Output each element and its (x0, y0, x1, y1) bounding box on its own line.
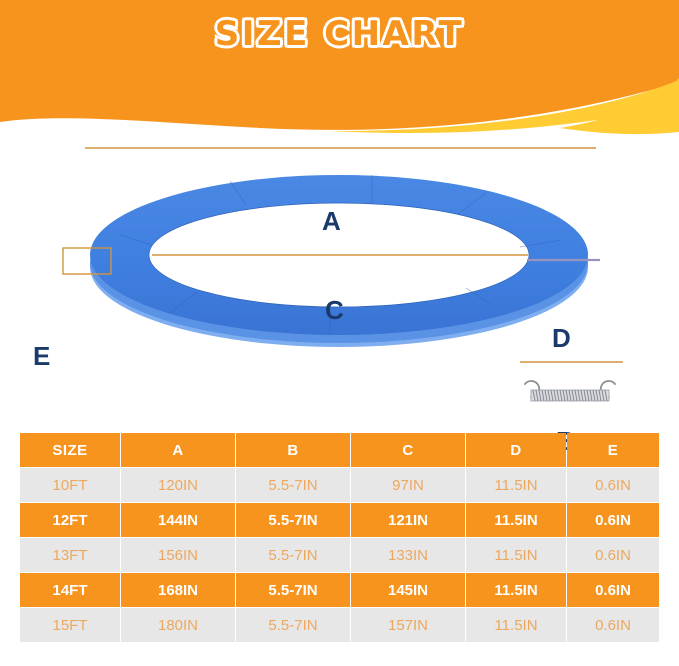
cell-c: 157IN (351, 608, 465, 642)
cell-e: 0.6IN (567, 573, 659, 607)
cell-size: 14FT (20, 573, 120, 607)
size-table-container: SIZE A B C D E 10FT 120IN 5.5-7IN 97IN 1… (19, 432, 657, 643)
cell-c: 97IN (351, 468, 465, 502)
cell-size: 12FT (20, 503, 120, 537)
cell-b: 5.5-7IN (236, 573, 350, 607)
cell-e: 0.6IN (567, 468, 659, 502)
cell-b: 5.5-7IN (236, 608, 350, 642)
table-row: 12FT 144IN 5.5-7IN 121IN 11.5IN 0.6IN (20, 503, 659, 537)
table-row: 15FT 180IN 5.5-7IN 157IN 11.5IN 0.6IN (20, 608, 659, 642)
cell-e: 0.6IN (567, 608, 659, 642)
cell-d: 11.5IN (466, 538, 566, 572)
table-header: SIZE A B C D E (20, 433, 659, 467)
column-header-size: SIZE (20, 433, 120, 467)
size-chart-page: SIZE CHART (0, 0, 679, 666)
cell-c: 145IN (351, 573, 465, 607)
column-header-e: E (567, 433, 659, 467)
cell-d: 11.5IN (466, 608, 566, 642)
cell-b: 5.5-7IN (236, 468, 350, 502)
table-row: 10FT 120IN 5.5-7IN 97IN 11.5IN 0.6IN (20, 468, 659, 502)
cell-d: 11.5IN (466, 468, 566, 502)
column-header-b: B (236, 433, 350, 467)
size-table: SIZE A B C D E 10FT 120IN 5.5-7IN 97IN 1… (19, 432, 660, 643)
trampoline-diagram-graphic (0, 100, 679, 420)
cell-b: 5.5-7IN (236, 503, 350, 537)
table-row: 13FT 156IN 5.5-7IN 133IN 11.5IN 0.6IN (20, 538, 659, 572)
column-header-a: A (121, 433, 235, 467)
cell-a: 144IN (121, 503, 235, 537)
table-row: 14FT 168IN 5.5-7IN 145IN 11.5IN 0.6IN (20, 573, 659, 607)
cell-a: 156IN (121, 538, 235, 572)
table-header-row: SIZE A B C D E (20, 433, 659, 467)
cell-a: 120IN (121, 468, 235, 502)
cell-d: 11.5IN (466, 573, 566, 607)
column-header-d: D (466, 433, 566, 467)
cell-size: 10FT (20, 468, 120, 502)
column-header-c: C (351, 433, 465, 467)
cell-c: 133IN (351, 538, 465, 572)
cell-e: 0.6IN (567, 538, 659, 572)
spring-icon (525, 381, 615, 401)
cell-b: 5.5-7IN (236, 538, 350, 572)
trampoline-diagram: A B C D E (0, 100, 679, 420)
cell-size: 13FT (20, 538, 120, 572)
cell-e: 0.6IN (567, 503, 659, 537)
table-body: 10FT 120IN 5.5-7IN 97IN 11.5IN 0.6IN 12F… (20, 468, 659, 642)
cell-size: 15FT (20, 608, 120, 642)
cell-a: 180IN (121, 608, 235, 642)
cell-c: 121IN (351, 503, 465, 537)
cell-a: 168IN (121, 573, 235, 607)
cell-d: 11.5IN (466, 503, 566, 537)
